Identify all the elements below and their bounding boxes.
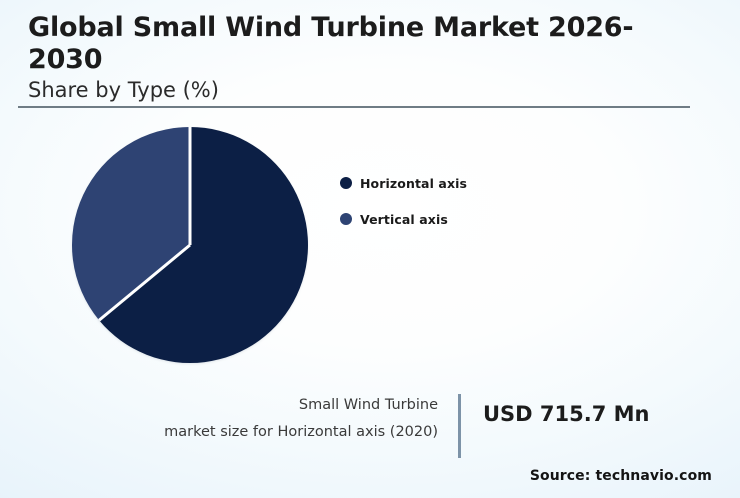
legend-item-vertical-axis[interactable]: Vertical axis (340, 208, 467, 230)
pie-chart-svg (70, 125, 310, 365)
legend-circle-marker-icon (340, 177, 352, 189)
pie-chart (70, 125, 310, 365)
source-attribution: Source: technavio.com (530, 468, 712, 484)
callout-description: Small Wind Turbine market size for Horiz… (140, 392, 458, 446)
title-divider (18, 106, 690, 108)
page-subtitle: Share by Type (%) (28, 78, 700, 103)
market-size-callout: Small Wind Turbine market size for Horiz… (140, 392, 700, 458)
callout-description-line-2: market size for Horizontal axis (2020) (140, 419, 438, 446)
callout-value: USD 715.7 Mn (461, 404, 650, 425)
infographic-canvas: Global Small Wind Turbine Market 2026-20… (0, 0, 740, 498)
callout-description-line-1: Small Wind Turbine (140, 392, 438, 419)
legend-item-label: Vertical axis (360, 212, 448, 227)
header: Global Small Wind Turbine Market 2026-20… (28, 12, 700, 103)
page-title: Global Small Wind Turbine Market 2026-20… (28, 12, 700, 75)
legend-item-label: Horizontal axis (360, 176, 467, 191)
chart-legend: Horizontal axis Vertical axis (340, 172, 467, 244)
legend-item-horizontal-axis[interactable]: Horizontal axis (340, 172, 467, 194)
legend-circle-marker-icon (340, 213, 352, 225)
